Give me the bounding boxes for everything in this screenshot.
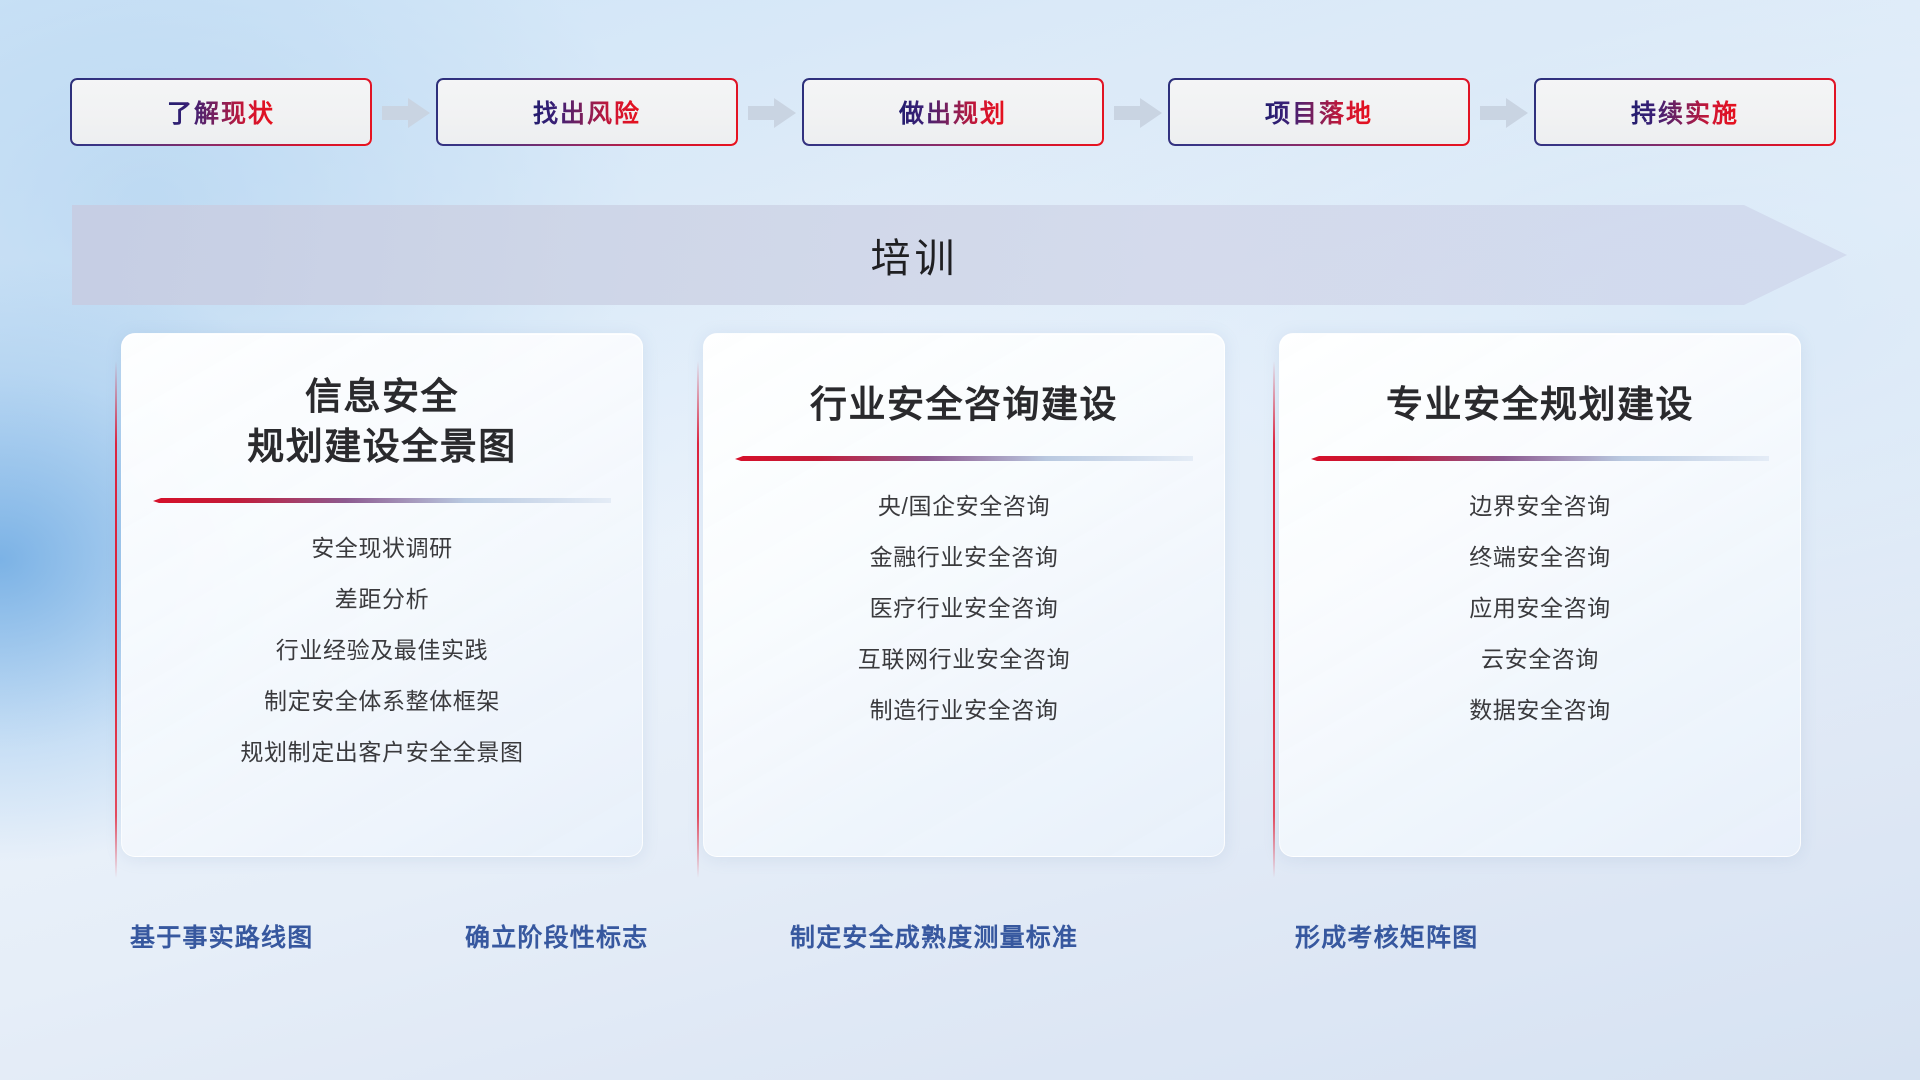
card-3-items: 边界安全咨询 终端安全咨询 应用安全咨询 云安全咨询 数据安全咨询 [1280,495,1800,722]
card-1-items: 安全现状调研 差距分析 行业经验及最佳实践 制定安全体系整体框架 规划制定出客户… [122,537,642,764]
step-label-4: 项目落地 [1265,94,1373,130]
step-box-5[interactable]: 持续实施 [1534,78,1836,146]
card-2[interactable]: 行业安全咨询建设 [697,333,1225,878]
step-box-3[interactable]: 做出规划 [802,78,1104,146]
bottom-label-1: 基于事实路线图 [130,918,313,954]
card-3-item-2: 终端安全咨询 [1280,546,1800,569]
training-banner: 培训 [72,205,1847,305]
bottom-label-4: 形成考核矩阵图 [1295,918,1478,954]
card-1[interactable]: 信息安全 规划建设全景图 [115,333,643,878]
card-2-item-5: 制造行业安全咨询 [704,699,1224,722]
step-box-2[interactable]: 找出风险 [436,78,738,146]
card-left-accent [115,361,117,878]
step-label-3: 做出规划 [899,94,1007,130]
step-label-5: 持续实施 [1631,94,1739,130]
bottom-label-3: 制定安全成熟度测量标准 [790,918,1078,954]
card-3[interactable]: 专业安全规划建设 [1273,333,1801,878]
right-arrow-icon [738,78,802,146]
card-1-item-3: 行业经验及最佳实践 [122,639,642,662]
step-box-1[interactable]: 了解现状 [70,78,372,146]
card-left-accent [697,361,699,878]
bottom-label-2: 确立阶段性标志 [465,918,648,954]
card-2-item-4: 互联网行业安全咨询 [704,648,1224,671]
card-2-item-1: 央/国企安全咨询 [704,495,1224,518]
bottom-label-row: 基于事实路线图 确立阶段性标志 制定安全成熟度测量标准 形成考核矩阵图 [0,918,1920,962]
card-2-item-3: 医疗行业安全咨询 [704,597,1224,620]
card-2-item-2: 金融行业安全咨询 [704,546,1224,569]
process-step-row: 了解现状 找出风险 做出规划 项目落地 [70,78,1850,146]
card-1-item-2: 差距分析 [122,588,642,611]
card-3-item-4: 云安全咨询 [1280,648,1800,671]
card-3-item-5: 数据安全咨询 [1280,699,1800,722]
card-2-title: 行业安全咨询建设 [810,380,1118,430]
card-1-item-1: 安全现状调研 [122,537,642,560]
step-label-2: 找出风险 [533,94,641,130]
card-1-divider [153,498,611,507]
card-2-items: 央/国企安全咨询 金融行业安全咨询 医疗行业安全咨询 互联网行业安全咨询 制造行… [704,495,1224,722]
card-1-body: 信息安全 规划建设全景图 [121,333,643,857]
card-3-item-3: 应用安全咨询 [1280,597,1800,620]
card-row: 信息安全 规划建设全景图 [0,333,1920,878]
banner-label: 培训 [72,205,1757,305]
card-3-body: 专业安全规划建设 [1279,333,1801,857]
card-1-item-5: 规划制定出客户安全全景图 [122,741,642,764]
right-arrow-icon [1470,78,1534,146]
card-left-accent [1273,361,1275,878]
slide-canvas: 了解现状 找出风险 做出规划 项目落地 [0,0,1920,1080]
step-label-1: 了解现状 [167,94,275,130]
card-1-title: 信息安全 规划建设全景图 [247,372,517,472]
card-2-divider [735,456,1193,465]
card-3-title: 专业安全规划建设 [1386,380,1694,430]
step-box-4[interactable]: 项目落地 [1168,78,1470,146]
card-3-divider [1311,456,1769,465]
right-arrow-icon [372,78,436,146]
right-arrow-icon [1104,78,1168,146]
card-1-item-4: 制定安全体系整体框架 [122,690,642,713]
card-3-item-1: 边界安全咨询 [1280,495,1800,518]
card-2-body: 行业安全咨询建设 [703,333,1225,857]
